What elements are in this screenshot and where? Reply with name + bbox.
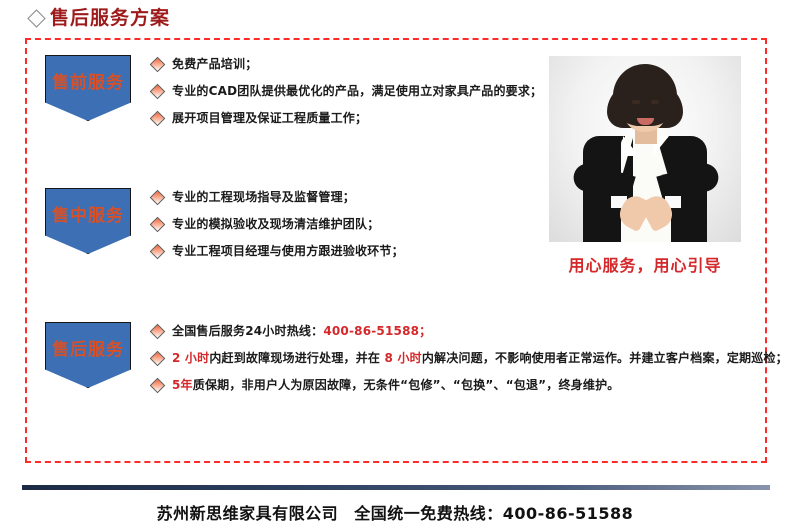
photo-fringe <box>619 74 671 94</box>
footer-company: 苏州新思维家具有限公司 <box>157 504 339 523</box>
list-item-text: 5年质保期，非用户人为原因故障，无条件“包修”、“包换”、“包退”，终身维护。 <box>172 378 619 393</box>
section-presale: 售前服务 免费产品培训； 专业的CAD团队提供最优化的产品，满足使用立对家具产品… <box>45 55 542 138</box>
section-aftersale: 售后服务 全国售后服务24小时热线：400-86-51588； 2 小时内赶到故… <box>45 322 788 405</box>
section-midsale: 售中服务 专业的工程现场指导及监督管理； 专业的模拟验收及现场清洁维护团队； 专… <box>45 188 404 271</box>
diamond-bullet-icon <box>150 190 166 206</box>
list-item-text: 专业的CAD团队提供最优化的产品，满足使用立对家具产品的要求； <box>172 84 542 99</box>
footer-hotline-label: 全国统一免费热线： <box>354 504 503 523</box>
banner-midsale: 售中服务 <box>45 188 131 254</box>
page-title: 售后服务方案 <box>50 9 170 28</box>
list-item: 2 小时内赶到故障现场进行处理，并在 8 小时内解决问题，不影响使用者正常运作。… <box>152 351 788 378</box>
list-item-text: 免费产品培训； <box>172 57 257 72</box>
list-item: 展开项目管理及保证工程质量工作； <box>152 111 542 138</box>
diamond-icon <box>27 9 45 27</box>
list-item: 专业的模拟验收及现场清洁维护团队； <box>152 217 404 244</box>
diamond-bullet-icon <box>150 84 166 100</box>
diamond-bullet-icon <box>150 378 166 394</box>
banner-midsale-label: 售中服务 <box>45 208 131 225</box>
photo-caption: 用心服务，用心引导 <box>549 252 741 276</box>
bullet-list-midsale: 专业的工程现场指导及监督管理； 专业的模拟验收及现场清洁维护团队； 专业工程项目… <box>152 188 404 271</box>
footer-divider-bar <box>22 485 770 490</box>
list-item: 免费产品培训； <box>152 57 542 84</box>
photo-eye-right <box>651 100 659 104</box>
footer-hotline-number: 400-86-51588 <box>503 504 634 523</box>
diamond-bullet-icon <box>150 244 166 260</box>
service-photo <box>549 56 741 242</box>
list-item-text: 专业的工程现场指导及监督管理； <box>172 190 355 205</box>
diamond-bullet-icon <box>150 324 166 340</box>
banner-aftersale-label: 售后服务 <box>45 342 131 359</box>
list-item-text: 全国售后服务24小时热线：400-86-51588； <box>172 324 431 339</box>
bullet-list-presale: 免费产品培训； 专业的CAD团队提供最优化的产品，满足使用立对家具产品的要求； … <box>152 55 542 138</box>
diamond-bullet-icon <box>150 351 166 367</box>
diamond-bullet-icon <box>150 57 166 73</box>
list-item: 5年质保期，非用户人为原因故障，无条件“包修”、“包换”、“包退”，终身维护。 <box>152 378 788 405</box>
bullet-list-aftersale: 全国售后服务24小时热线：400-86-51588； 2 小时内赶到故障现场进行… <box>152 322 788 405</box>
list-item-text: 展开项目管理及保证工程质量工作； <box>172 111 367 126</box>
list-item-text: 专业工程项目经理与使用方跟进验收环节； <box>172 244 404 259</box>
diamond-bullet-icon <box>150 217 166 233</box>
diamond-bullet-icon <box>150 111 166 127</box>
list-item-text: 专业的模拟验收及现场清洁维护团队； <box>172 217 379 232</box>
list-item: 专业工程项目经理与使用方跟进验收环节； <box>152 244 404 271</box>
banner-aftersale: 售后服务 <box>45 322 131 388</box>
list-item: 全国售后服务24小时热线：400-86-51588； <box>152 324 788 351</box>
list-item: 专业的工程现场指导及监督管理； <box>152 190 404 217</box>
list-item-text: 2 小时内赶到故障现场进行处理，并在 8 小时内解决问题，不影响使用者正常运作。… <box>172 351 788 366</box>
banner-presale: 售前服务 <box>45 55 131 121</box>
footer-text: 苏州新思维家具有限公司全国统一免费热线：400-86-51588 <box>0 500 790 524</box>
photo-eye-left <box>632 100 640 104</box>
banner-presale-label: 售前服务 <box>45 75 131 92</box>
page-title-row: 售后服务方案 <box>30 9 170 28</box>
list-item: 专业的CAD团队提供最优化的产品，满足使用立对家具产品的要求； <box>152 84 542 111</box>
